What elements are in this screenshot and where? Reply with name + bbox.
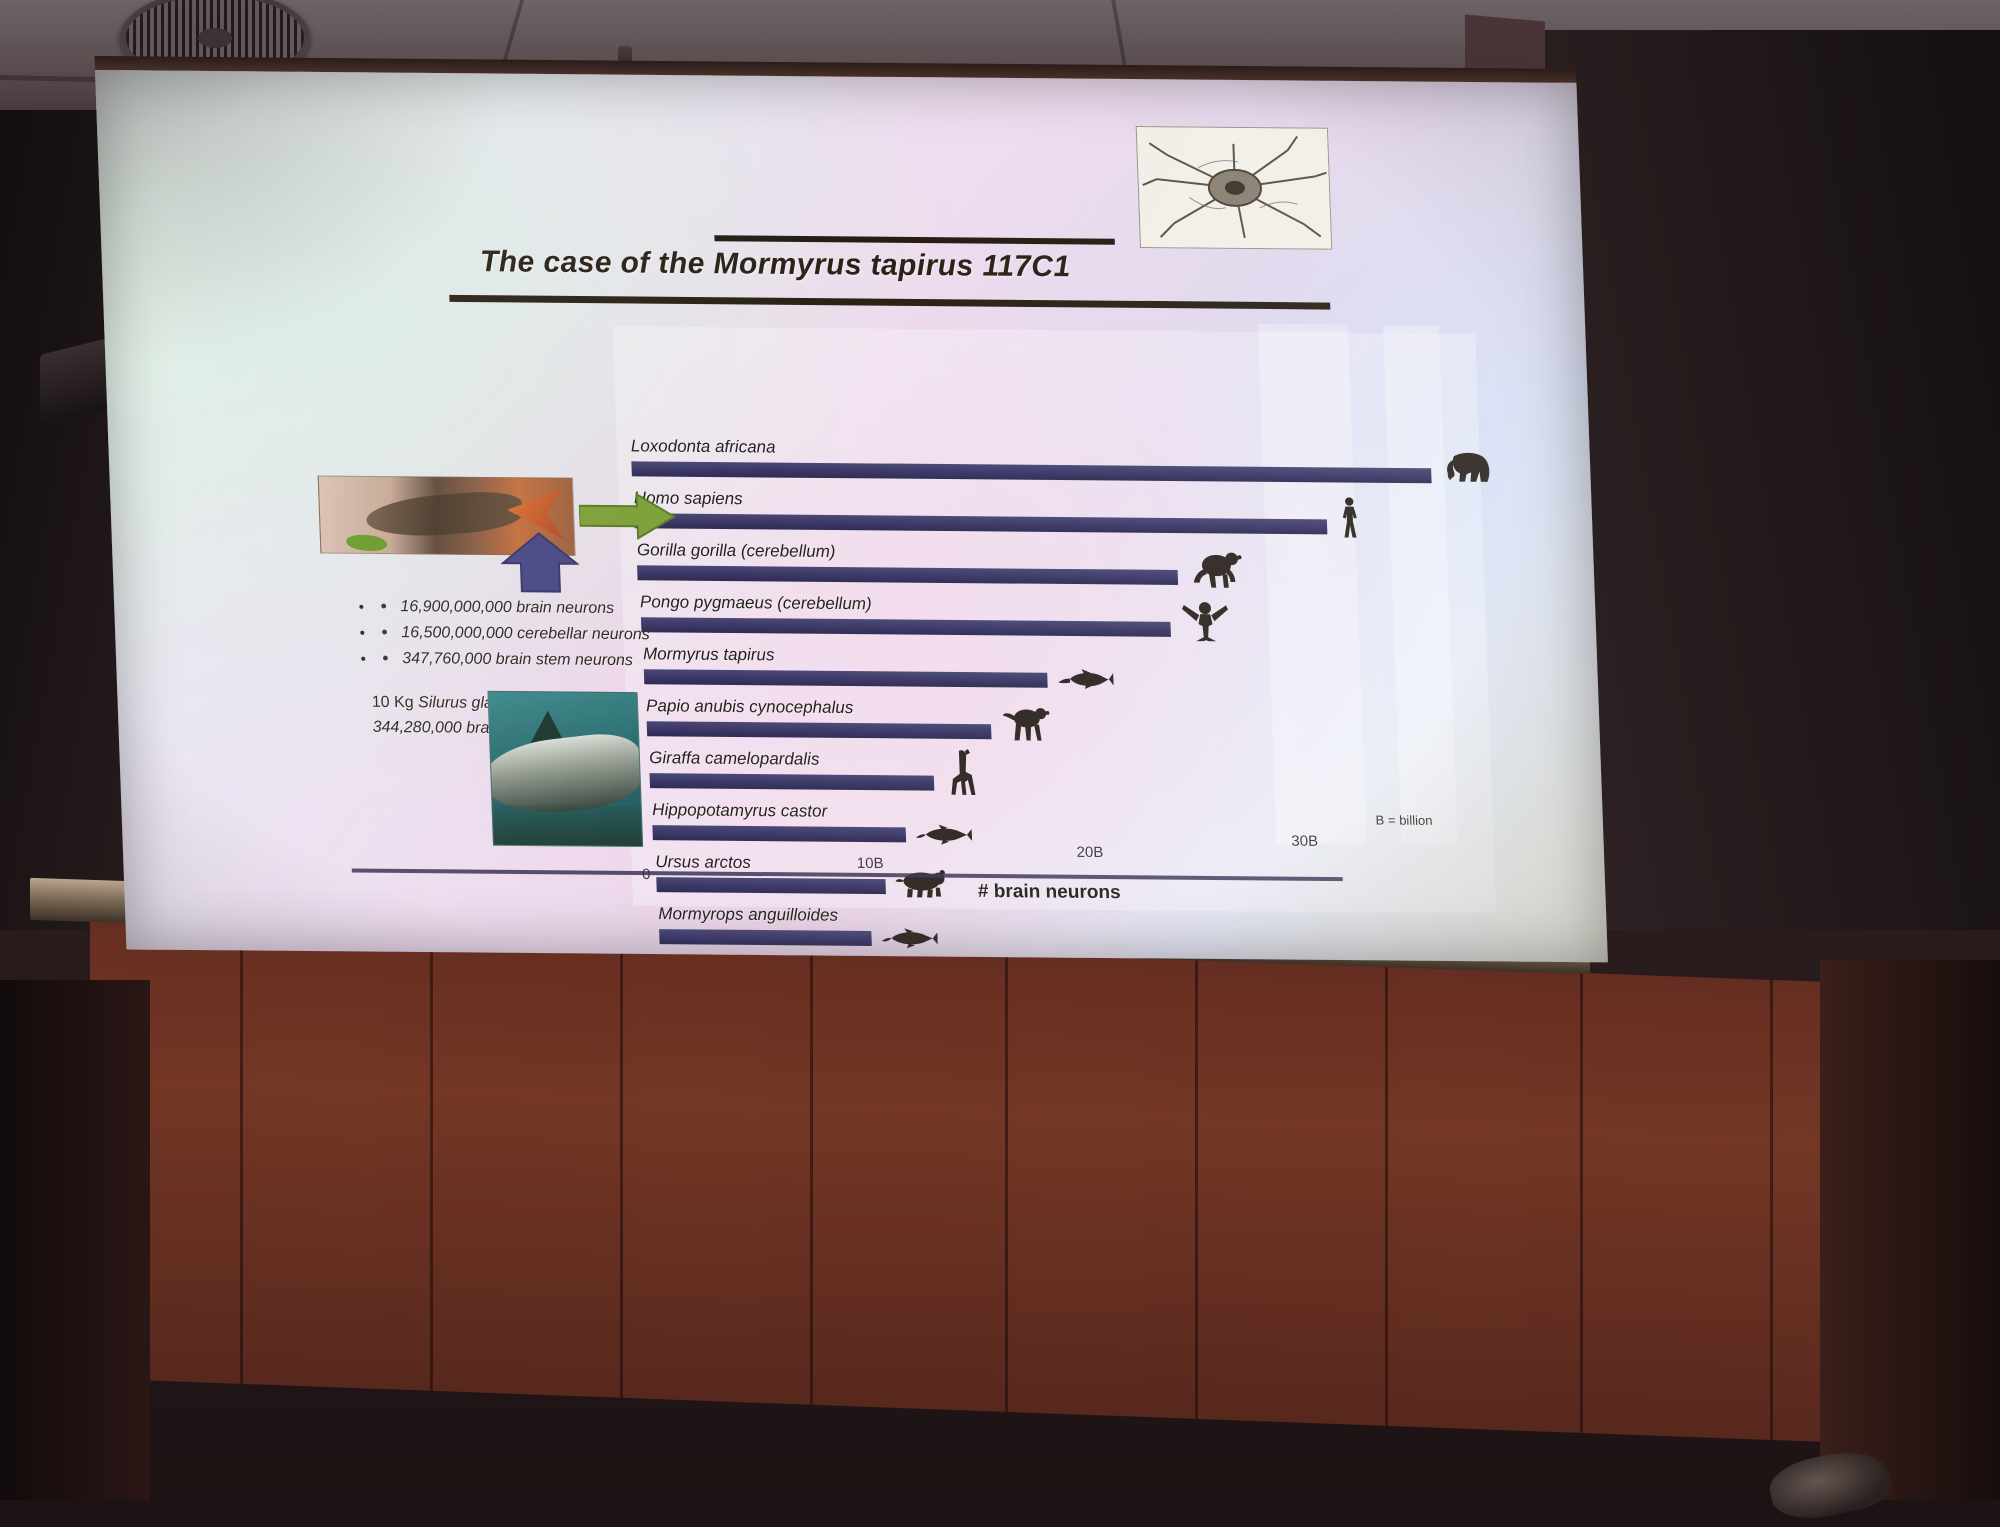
title-rule-top [714,235,1115,244]
title-rule-bottom [449,295,1330,310]
list-item: 347,760,000 brain stem neurons [376,646,717,675]
bar-label: Gorilla gorilla (cerebellum) [637,540,836,562]
x-axis-title: # brain neurons [978,881,1121,904]
bar-row: Gorilla gorilla (cerebellum) [630,540,1477,587]
slide-content: The case of the Mormyrus tapirus 117C1 [205,123,1496,924]
bar-row: Loxodonta africana [626,436,1473,483]
elephantfish-icon [1056,648,1114,692]
wood-panelling [90,918,1930,1445]
neuron-count-bullet-list: 16,900,000,000 brain neurons 16,500,000,… [374,594,717,675]
baboon-icon [1000,699,1058,743]
list-item: 16,500,000,000 cerebellar neurons [375,620,716,649]
list-item: 16,900,000,000 brain neurons [374,594,715,623]
comparison-weight: 10 Kg [371,694,418,711]
elephant-icon [1440,443,1498,487]
vent-hub [198,28,232,48]
human-icon [1336,494,1394,538]
green-arrow-icon [578,492,676,541]
orangutan-icon [1180,597,1238,641]
bar [637,565,1177,585]
bar-label: Ursus arctos [655,852,751,873]
bar [659,929,872,946]
units-note: B = billion [1375,812,1483,828]
projection-screen: The case of the Mormyrus tapirus 117C1 [95,70,1608,962]
giraffe-icon [943,751,1001,795]
bar-label: Papio anubis cynocephalus [646,696,854,718]
right-wall-shadow [1820,960,2000,1500]
bar-row: Papio anubis cynocephalus [636,696,1483,743]
bar-row: Hippopotamyrus castor [639,800,1486,847]
fish-icon [915,802,973,846]
screen-surface: The case of the Mormyrus tapirus 117C1 [95,70,1608,962]
x-tick-30B: 30B [1291,833,1318,850]
bar-row: Pongo pygmaeus (cerebellum) [632,592,1479,639]
bar-label: Loxodonta africana [630,436,775,457]
bar [631,461,1432,483]
bar [653,825,907,842]
bar [656,877,886,894]
bar-label: Giraffa camelopardalis [649,748,820,769]
x-tick-20B: 20B [1076,844,1103,861]
bar-label: Hippopotamyrus castor [652,800,828,822]
bar-row: Mormyrops anguilloides [643,904,1490,951]
x-tick-10B: 10B [857,855,884,872]
slide-title: The case of the Mormyrus tapirus 117C1 [480,245,1072,284]
catfish-substrate [493,805,643,846]
bar-row: Homo sapiens [628,488,1475,535]
bar [647,721,991,739]
bar [634,513,1327,534]
bar-row: Mormyrus tapirus [634,644,1481,691]
fish-icon [881,906,939,950]
brain-neuron-bar-chart: Loxodonta africanaHomo sapiensGorilla go… [623,336,1487,853]
bar [650,773,935,790]
blue-up-arrow-icon [500,531,580,594]
lecture-hall-scene: The case of the Mormyrus tapirus 117C1 [0,0,2000,1500]
leaf [346,535,387,552]
neuron-icon [1137,127,1333,250]
gorilla-icon [1186,545,1244,589]
left-wall-shadow [0,980,150,1500]
bar-label: Mormyrops anguilloides [658,904,838,926]
bar-row: Giraffa camelopardalis [638,748,1485,795]
neuron-micrograph-image [1136,126,1333,250]
bar [641,617,1172,637]
catfish-photo [487,691,643,847]
